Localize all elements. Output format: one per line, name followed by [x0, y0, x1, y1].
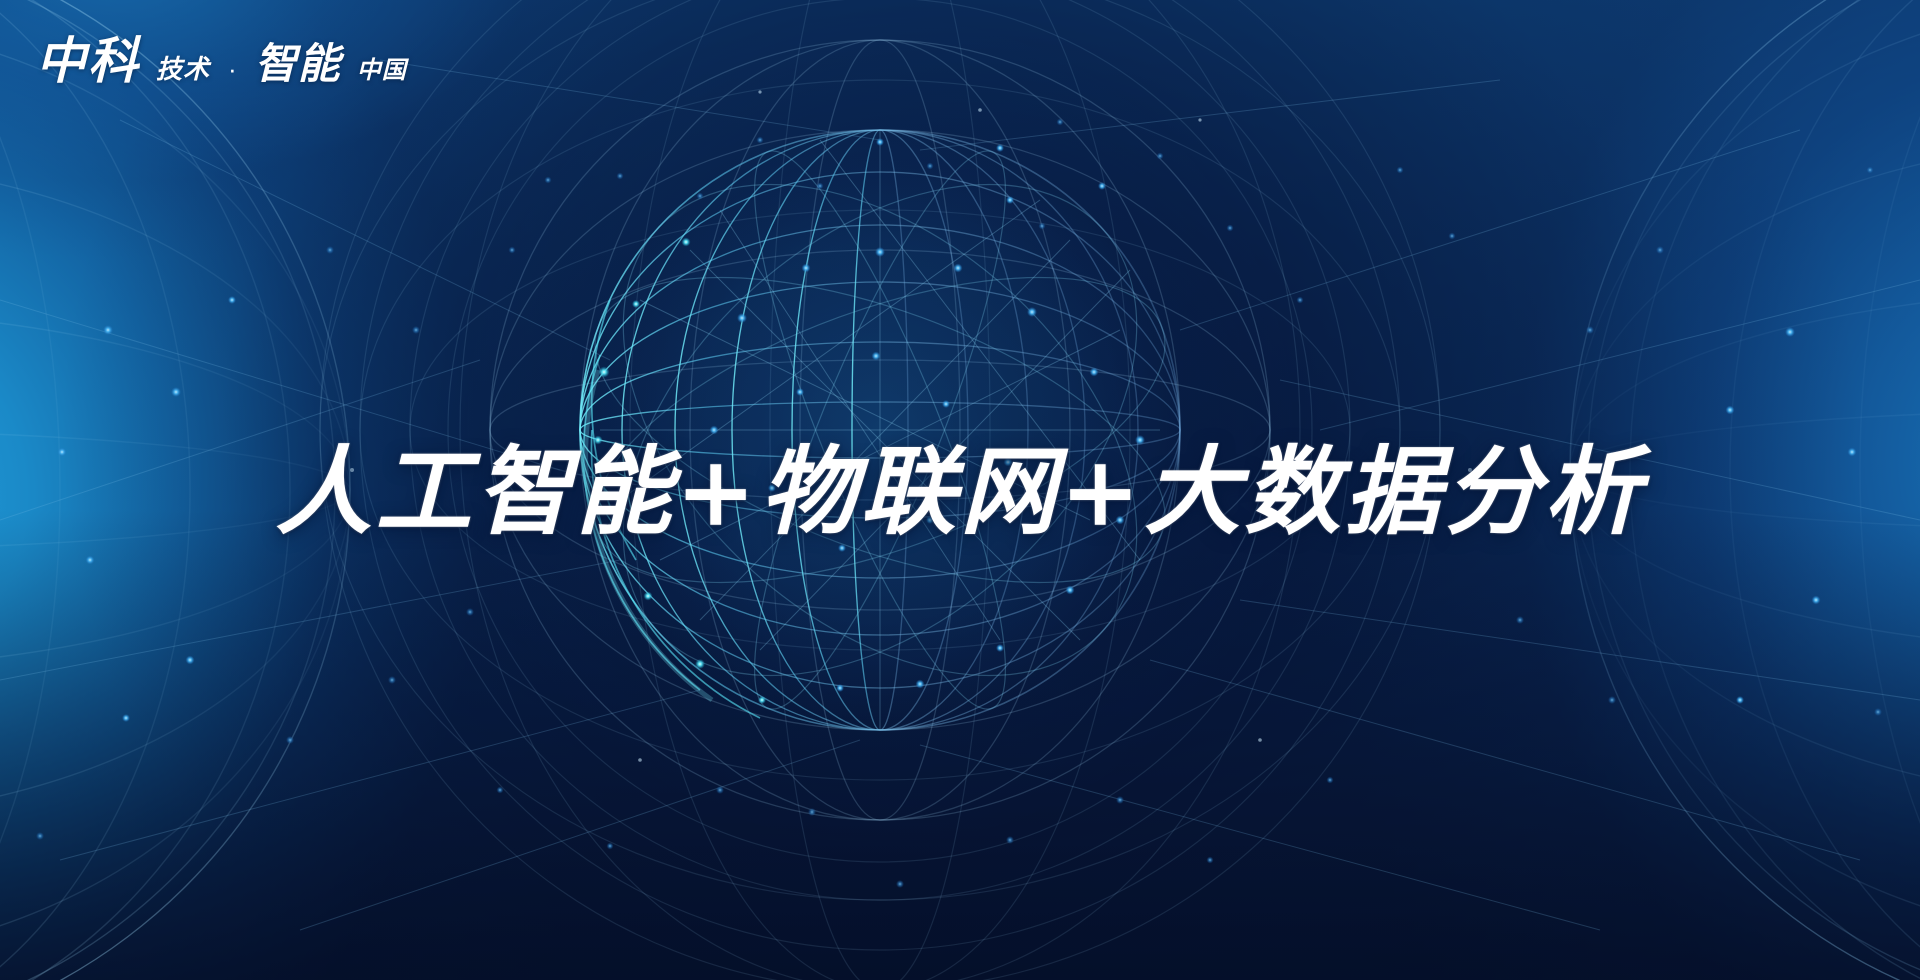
brand-tagline-china: 中国	[357, 58, 407, 82]
brand-name: 中科	[36, 36, 140, 86]
slide-canvas: 中科 技术 · 智能 中国 人工智能+物联网+大数据分析	[0, 0, 1920, 980]
sparkle-dots	[350, 90, 1562, 761]
hero-headline-container: 人工智能+物联网+大数据分析	[0, 440, 1920, 544]
globe-wireframe	[580, 130, 1180, 730]
hero-headline: 人工智能+物联网+大数据分析	[276, 440, 1645, 544]
brand-tagline-tech: 技术	[156, 57, 210, 83]
mid-orbit-rings	[490, 40, 1270, 820]
brand-separator-dot: ·	[228, 56, 237, 82]
globe-chords	[600, 130, 1160, 730]
globe-core-glow	[580, 130, 1180, 730]
brand-tagline-smart: 智能	[255, 43, 341, 85]
globe-tilted-circles	[530, 88, 1230, 772]
brand-logo[interactable]: 中科 技术 · 智能 中国	[36, 36, 407, 86]
